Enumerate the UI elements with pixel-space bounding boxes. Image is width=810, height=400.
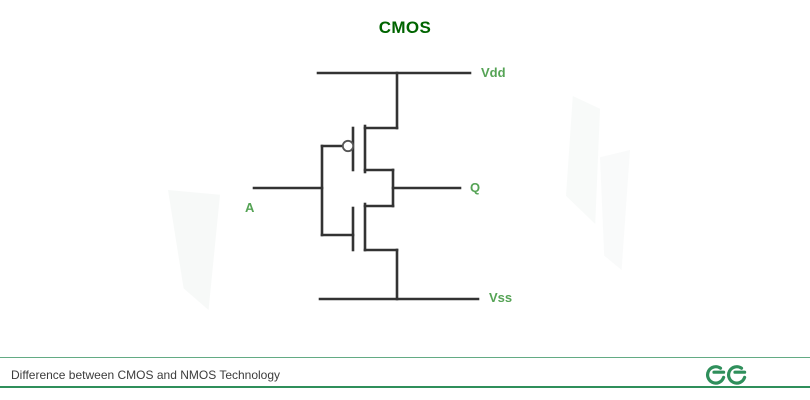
node-label-vss: Vss bbox=[489, 290, 512, 305]
footer-divider-bottom bbox=[0, 386, 810, 388]
cmos-inverter-schematic bbox=[0, 0, 810, 340]
geeksforgeeks-logo-icon bbox=[700, 357, 762, 387]
node-label-input-a: A bbox=[245, 200, 254, 215]
footer-caption: Difference between CMOS and NMOS Technol… bbox=[11, 368, 280, 382]
node-label-vdd: Vdd bbox=[481, 65, 506, 80]
footer-divider-top bbox=[0, 357, 810, 358]
slide-canvas: CMOS bbox=[0, 0, 810, 400]
pmos-inversion-bubble-icon bbox=[343, 141, 353, 151]
node-label-output-q: Q bbox=[470, 180, 480, 195]
